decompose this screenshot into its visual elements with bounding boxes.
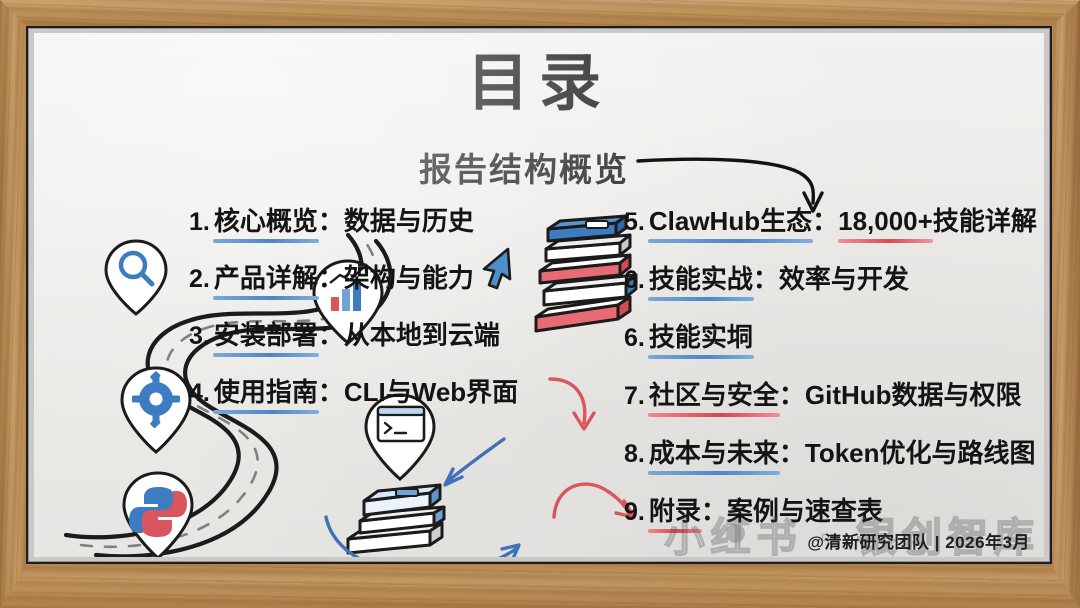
footer-author: @清新研究团队 [807, 533, 929, 552]
toc-rest: 数据与历史 [344, 206, 474, 236]
slide-root: 目录 报告结构概览 [0, 0, 1080, 608]
toc-rest: 从本地到云端 [344, 320, 500, 350]
toc-key: 附录 [649, 496, 701, 526]
toc-key: 核心概览 [214, 206, 318, 236]
toc-key: 使用指南 [214, 377, 318, 407]
toc-rest: 效率与开发 [779, 264, 909, 294]
curved-arrow-blue-lower-icon [432, 433, 512, 495]
footer-credit: @清新研究团队 | 2026年3月 [807, 528, 1030, 553]
toc-item-2[interactable]: 2.产品详解：架构与能力 [189, 258, 549, 309]
toc-number: 6. [624, 324, 645, 352]
toc-separator: ： [701, 496, 727, 526]
toc-key: 技能实战 [649, 264, 753, 294]
toc-rest: Token优化与路线图 [805, 438, 1036, 468]
toc-key: 产品详解 [214, 263, 318, 293]
watermark-dot [726, 524, 745, 543]
toc-separator: ： [318, 263, 344, 293]
curved-arrow-red-upper-icon [540, 371, 620, 451]
toc-number: 3. [189, 322, 210, 350]
toc-separator: ： [753, 264, 779, 294]
toc-key: ClawHub生态 [649, 206, 812, 236]
toc-item-7[interactable]: 7.社区与安全：GitHub数据与权限 [624, 375, 1044, 427]
pin-magnifier [106, 241, 166, 314]
toc-separator: ： [779, 380, 805, 410]
toc-separator: ： [779, 438, 805, 468]
toc-rest: 案例与速查表 [727, 496, 883, 526]
toc-number: 5. [624, 208, 645, 236]
toc-number: 6. [624, 266, 645, 294]
toc-rest: GitHub数据与权限 [805, 380, 1022, 410]
toc-rest-highlight: 18,000+ [838, 206, 933, 236]
toc-key: 成本与未来 [649, 438, 779, 468]
toc-column-left: 1.核心概览：数据与历史 2.产品详解：架构与能力 3.安装部署：从本地到云端 … [189, 201, 549, 429]
frame-edge-right [1048, 0, 1080, 608]
toc-rest: CLI与Web界面 [344, 377, 518, 407]
toc-number: 4. [189, 379, 210, 407]
toc-item-8[interactable]: 8.成本与未来：Token优化与路线图 [624, 433, 1044, 485]
toc-number: 9. [624, 498, 645, 526]
toc-separator: ： [318, 320, 344, 350]
toc-number: 8. [624, 440, 645, 468]
toc-number: 1. [189, 208, 210, 236]
toc-item-6b[interactable]: 6.技能实垌 [624, 317, 1044, 369]
toc-item-4[interactable]: 4.使用指南：CLI与Web界面 [189, 372, 549, 423]
toc-key: 技能实垌 [649, 322, 753, 352]
toc-column-right: 5.ClawHub生态：18,000+技能详解 6.技能实战：效率与开发 6.技… [624, 201, 1044, 549]
pin-gear [122, 368, 190, 452]
toc-number: 7. [624, 382, 645, 410]
footer-divider: | [935, 533, 940, 552]
toc-item-3[interactable]: 3.安装部署：从本地到云端 [189, 315, 549, 366]
toc-separator: ： [812, 206, 838, 236]
toc-key: 社区与安全 [649, 380, 779, 410]
toc-rest: 架构与能力 [344, 263, 474, 293]
toc-separator: ： [318, 377, 344, 407]
slide-canvas: 目录 报告结构概览 [34, 33, 1044, 557]
curved-arrow-blue-bottom-icon [320, 511, 540, 557]
toc-number: 2. [189, 265, 210, 293]
toc-separator: ： [318, 206, 344, 236]
footer-date: 2026年3月 [945, 533, 1030, 552]
toc-item-1[interactable]: 1.核心概览：数据与历史 [189, 201, 549, 252]
toc-key: 安装部署 [214, 320, 318, 350]
frame-edge-bottom [0, 560, 1080, 608]
page-title: 目录 [34, 53, 1044, 115]
toc-item-6a[interactable]: 6.技能实战：效率与开发 [624, 259, 1044, 311]
toc-item-5[interactable]: 5.ClawHub生态：18,000+技能详解 [624, 201, 1044, 253]
toc-rest: 技能详解 [933, 206, 1037, 236]
